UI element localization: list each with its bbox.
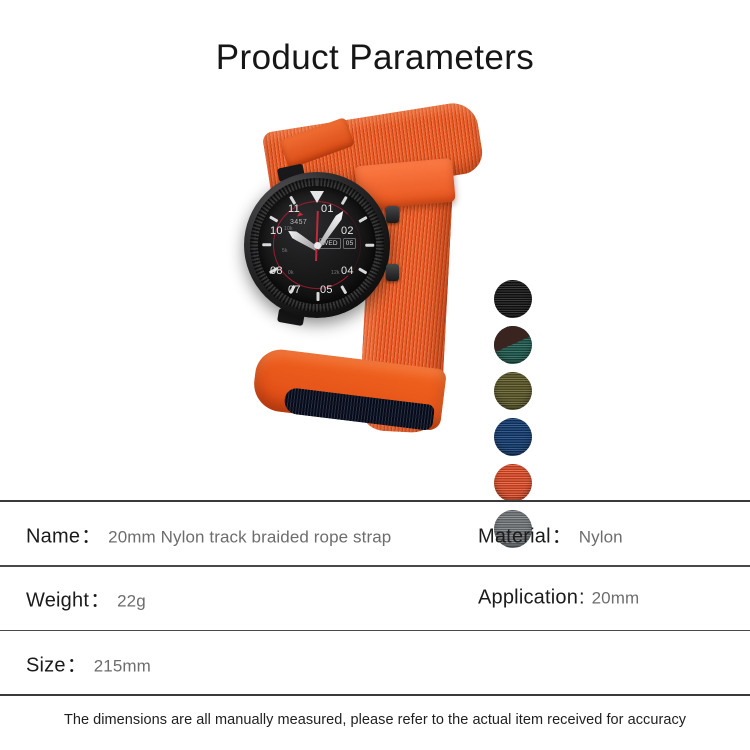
- param-size-value: 215mm: [94, 656, 151, 676]
- hands-center-pin: [314, 242, 321, 249]
- dial-tick-5: [341, 285, 348, 294]
- swatch-secondary-tone: [494, 326, 532, 352]
- param-application-colon: :: [579, 587, 585, 610]
- dial-numeral-05: 05: [320, 284, 333, 296]
- smartwatch: 01 02 04 05 07 08 10 11 10k 5k 0k 12k 34…: [244, 172, 390, 318]
- param-material-label: Material: [478, 525, 551, 548]
- table-row: Name ： 20mm Nylon track braided rope str…: [0, 502, 750, 565]
- watch-button-top: [386, 206, 399, 223]
- param-size-colon: ：: [67, 648, 87, 677]
- dial-tick-1: [341, 196, 348, 205]
- param-material-value: Nylon: [579, 527, 623, 547]
- dial-tick-2: [358, 216, 367, 223]
- param-weight: Weight ： 22g: [26, 584, 146, 613]
- table-row: Weight ： 22g Application : 20mm: [0, 567, 750, 630]
- dial-micro-label-2: 0k: [288, 270, 294, 276]
- param-size-label: Size: [26, 654, 66, 677]
- page-title: Product Parameters: [0, 38, 750, 78]
- table-rule-bottom: [0, 694, 750, 696]
- dial-micro-label-3: 12k: [331, 270, 340, 276]
- dial-index-marker-12: [310, 191, 324, 203]
- param-weight-label: Weight: [26, 590, 89, 613]
- param-size: Size ： 215mm: [26, 648, 151, 677]
- color-swatch-orange[interactable]: [494, 464, 532, 502]
- param-name-label: Name: [26, 525, 80, 548]
- table-row: Size ： 215mm: [0, 631, 750, 694]
- watch-dial: 01 02 04 05 07 08 10 11 10k 5k 0k 12k 34…: [258, 186, 376, 304]
- param-name-value: 20mm Nylon track braided rope strap: [108, 527, 391, 547]
- param-application-label: Application: [478, 587, 578, 610]
- product-parameters-page: Product Parameters: [0, 0, 750, 750]
- color-swatch-dark-green[interactable]: [494, 326, 532, 364]
- dial-numeral-04: 04: [341, 265, 354, 277]
- dial-micro-label-1: 5k: [282, 248, 288, 254]
- dial-tick-3: [365, 244, 374, 247]
- param-name: Name ： 20mm Nylon track braided rope str…: [26, 519, 391, 548]
- dial-tick-9: [262, 244, 271, 247]
- disclaimer-note: The dimensions are all manually measured…: [0, 712, 750, 728]
- color-swatch-navy-blue[interactable]: [494, 418, 532, 456]
- dial-tick-4: [358, 267, 367, 274]
- param-material: Material ： Nylon: [478, 519, 623, 548]
- parameters-table: Name ： 20mm Nylon track braided rope str…: [0, 500, 750, 696]
- dial-numeral-01: 01: [321, 203, 334, 215]
- param-weight-colon: ：: [90, 584, 110, 613]
- param-weight-value: 22g: [117, 592, 146, 612]
- dial-day: 05: [343, 238, 357, 249]
- color-swatch-army-green[interactable]: [494, 372, 532, 410]
- dial-numeral-07: 07: [288, 284, 301, 296]
- param-name-colon: ：: [81, 519, 101, 548]
- dial-numeral-08: 08: [270, 265, 283, 277]
- dial-steps-value: 3457: [290, 219, 307, 226]
- param-material-colon: ：: [552, 519, 572, 548]
- dial-numeral-11: 11: [288, 203, 300, 215]
- dial-tick-10: [269, 216, 278, 223]
- param-application: Application : 20mm: [478, 587, 639, 610]
- dial-numeral-10: 10: [270, 225, 283, 237]
- param-application-value: 20mm: [592, 589, 640, 609]
- watch-with-strap: 01 02 04 05 07 08 10 11 10k 5k 0k 12k 34…: [238, 110, 508, 455]
- color-swatch-black[interactable]: [494, 280, 532, 318]
- watch-button-bottom: [386, 264, 399, 281]
- dial-numeral-02: 02: [341, 225, 354, 237]
- product-image: 01 02 04 05 07 08 10 11 10k 5k 0k 12k 34…: [0, 100, 750, 470]
